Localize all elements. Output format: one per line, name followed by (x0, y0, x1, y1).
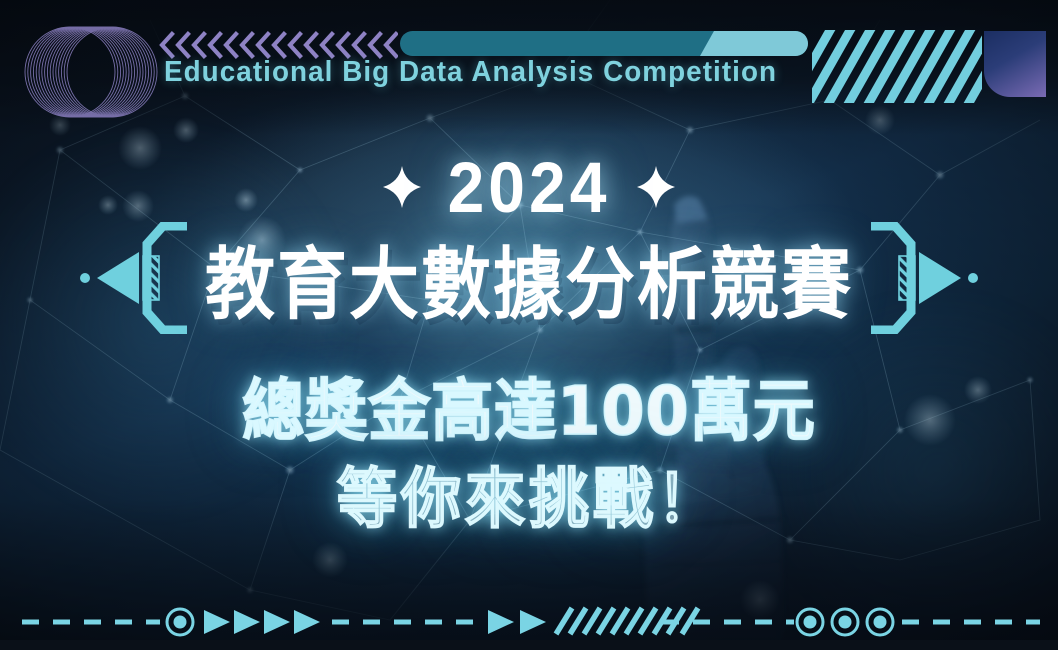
footer-ornament-bar (0, 592, 1058, 650)
header-strip: Educational Big Data Analysis Competitio… (0, 0, 1058, 118)
circle-dot-marker-icon (167, 609, 193, 635)
year-label: 2024 (448, 146, 611, 228)
circle-dot-marker-icon (832, 609, 858, 635)
overlapping-circles-logo-icon (22, 26, 162, 118)
corner-gradient-shape (984, 31, 1046, 97)
circle-dot-marker-icon (867, 609, 893, 635)
diagonal-stripes-decoration (812, 30, 982, 103)
prize-amount-line: 總獎金高達100萬元 (0, 356, 1058, 453)
footer-baseline (0, 640, 1058, 650)
main-title: 教育大數據分析競賽 (205, 221, 853, 334)
four-point-star-sparkle-icon (636, 165, 676, 209)
year-row: 2024 (0, 146, 1058, 228)
main-title-row: 教育大數據分析競賽 (0, 222, 1058, 334)
left-bracket-ornament-icon (77, 222, 197, 334)
right-bracket-ornament-icon (861, 222, 981, 334)
progress-bar-decoration (400, 31, 808, 56)
poster-banner: Educational Big Data Analysis Competitio… (0, 0, 1058, 650)
english-title: Educational Big Data Analysis Competitio… (164, 56, 777, 89)
challenge-call-line: 等你來挑戰！ (0, 447, 1058, 541)
circle-dot-marker-icon (797, 609, 823, 635)
four-point-star-sparkle-icon (382, 165, 422, 209)
